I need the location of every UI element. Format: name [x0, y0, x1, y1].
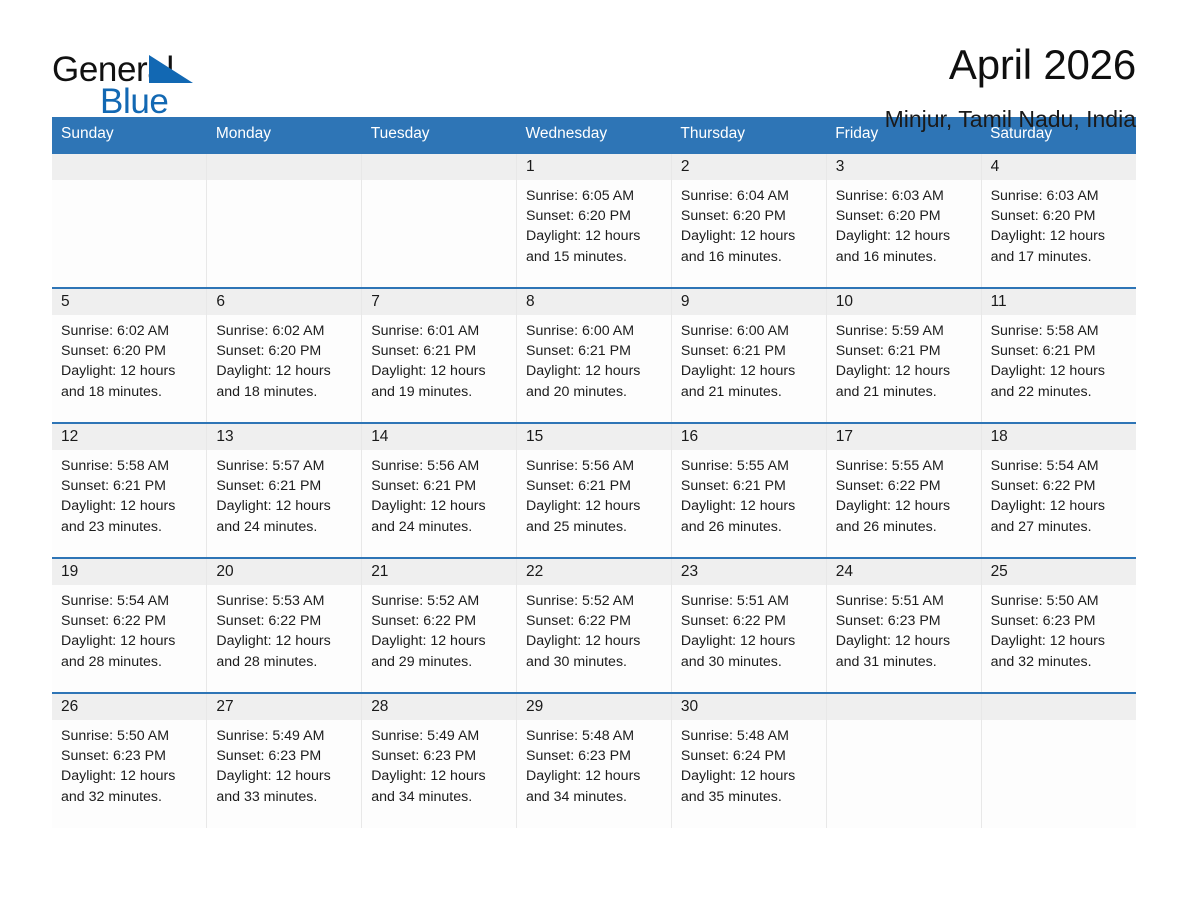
day-number: 26 [52, 694, 206, 720]
calendar-day-cell-empty [826, 693, 981, 828]
day-number: 24 [827, 559, 981, 585]
calendar-day-cell[interactable]: 6Sunrise: 6:02 AM Sunset: 6:20 PM Daylig… [207, 288, 362, 423]
calendar-day-cell[interactable]: 11Sunrise: 5:58 AM Sunset: 6:21 PM Dayli… [981, 288, 1136, 423]
day-sun-details: Sunrise: 5:50 AM Sunset: 6:23 PM Dayligh… [982, 585, 1136, 672]
day-number: 6 [207, 289, 361, 315]
day-sun-details: Sunrise: 5:50 AM Sunset: 6:23 PM Dayligh… [52, 720, 206, 807]
calendar-day-cell[interactable]: 29Sunrise: 5:48 AM Sunset: 6:23 PM Dayli… [517, 693, 672, 828]
calendar-day-cell-empty [362, 153, 517, 288]
day-number: 5 [52, 289, 206, 315]
day-number: 13 [207, 424, 361, 450]
day-sun-details: Sunrise: 5:55 AM Sunset: 6:22 PM Dayligh… [827, 450, 981, 537]
calendar-day-cell[interactable]: 3Sunrise: 6:03 AM Sunset: 6:20 PM Daylig… [826, 153, 981, 288]
calendar-day-cell[interactable]: 18Sunrise: 5:54 AM Sunset: 6:22 PM Dayli… [981, 423, 1136, 558]
day-sun-details: Sunrise: 6:04 AM Sunset: 6:20 PM Dayligh… [672, 180, 826, 267]
page-title: April 2026 [885, 44, 1136, 86]
weekday-header-monday: Monday [207, 117, 362, 153]
weekday-header-tuesday: Tuesday [362, 117, 517, 153]
day-sun-details: Sunrise: 5:48 AM Sunset: 6:24 PM Dayligh… [672, 720, 826, 807]
day-number [207, 154, 361, 180]
calendar-day-cell[interactable]: 23Sunrise: 5:51 AM Sunset: 6:22 PM Dayli… [671, 558, 826, 693]
day-sun-details: Sunrise: 5:52 AM Sunset: 6:22 PM Dayligh… [362, 585, 516, 672]
day-number: 22 [517, 559, 671, 585]
day-sun-details: Sunrise: 5:56 AM Sunset: 6:21 PM Dayligh… [362, 450, 516, 537]
day-number: 30 [672, 694, 826, 720]
calendar-day-cell[interactable]: 5Sunrise: 6:02 AM Sunset: 6:20 PM Daylig… [52, 288, 207, 423]
weekday-header-thursday: Thursday [671, 117, 826, 153]
calendar-week-row: 12Sunrise: 5:58 AM Sunset: 6:21 PM Dayli… [52, 423, 1136, 558]
calendar-day-cell-empty [981, 693, 1136, 828]
generalblue-logo[interactable]: General Blue [52, 44, 242, 116]
logo-text-blue: Blue [100, 84, 168, 119]
day-number: 10 [827, 289, 981, 315]
day-number [52, 154, 206, 180]
day-number [982, 694, 1136, 720]
weekday-header-sunday: Sunday [52, 117, 207, 153]
day-number: 17 [827, 424, 981, 450]
day-number: 2 [672, 154, 826, 180]
day-sun-details: Sunrise: 5:58 AM Sunset: 6:21 PM Dayligh… [982, 315, 1136, 402]
calendar-day-cell-empty [207, 153, 362, 288]
calendar-day-cell[interactable]: 26Sunrise: 5:50 AM Sunset: 6:23 PM Dayli… [52, 693, 207, 828]
calendar-day-cell[interactable]: 15Sunrise: 5:56 AM Sunset: 6:21 PM Dayli… [517, 423, 672, 558]
day-number: 3 [827, 154, 981, 180]
day-number: 25 [982, 559, 1136, 585]
day-sun-details: Sunrise: 5:51 AM Sunset: 6:22 PM Dayligh… [672, 585, 826, 672]
day-sun-details: Sunrise: 5:49 AM Sunset: 6:23 PM Dayligh… [207, 720, 361, 807]
calendar-week-row: 19Sunrise: 5:54 AM Sunset: 6:22 PM Dayli… [52, 558, 1136, 693]
day-number: 16 [672, 424, 826, 450]
calendar-day-cell[interactable]: 30Sunrise: 5:48 AM Sunset: 6:24 PM Dayli… [671, 693, 826, 828]
calendar-week-row: 26Sunrise: 5:50 AM Sunset: 6:23 PM Dayli… [52, 693, 1136, 828]
sunrise-sunset-calendar: SundayMondayTuesdayWednesdayThursdayFrid… [52, 117, 1136, 829]
day-sun-details: Sunrise: 6:02 AM Sunset: 6:20 PM Dayligh… [52, 315, 206, 402]
calendar-day-cell[interactable]: 4Sunrise: 6:03 AM Sunset: 6:20 PM Daylig… [981, 153, 1136, 288]
day-sun-details [362, 180, 516, 186]
day-sun-details: Sunrise: 5:52 AM Sunset: 6:22 PM Dayligh… [517, 585, 671, 672]
calendar-day-cell[interactable]: 20Sunrise: 5:53 AM Sunset: 6:22 PM Dayli… [207, 558, 362, 693]
day-number: 29 [517, 694, 671, 720]
day-number [827, 694, 981, 720]
day-sun-details: Sunrise: 6:01 AM Sunset: 6:21 PM Dayligh… [362, 315, 516, 402]
day-sun-details: Sunrise: 6:00 AM Sunset: 6:21 PM Dayligh… [517, 315, 671, 402]
calendar-day-cell[interactable]: 10Sunrise: 5:59 AM Sunset: 6:21 PM Dayli… [826, 288, 981, 423]
calendar-week-row: 5Sunrise: 6:02 AM Sunset: 6:20 PM Daylig… [52, 288, 1136, 423]
calendar-day-cell[interactable]: 16Sunrise: 5:55 AM Sunset: 6:21 PM Dayli… [671, 423, 826, 558]
day-sun-details: Sunrise: 5:56 AM Sunset: 6:21 PM Dayligh… [517, 450, 671, 537]
weekday-header-wednesday: Wednesday [517, 117, 672, 153]
calendar-day-cell[interactable]: 2Sunrise: 6:04 AM Sunset: 6:20 PM Daylig… [671, 153, 826, 288]
page-header: General Blue April 2026 Minjur, Tamil Na… [52, 0, 1136, 112]
day-sun-details: Sunrise: 6:03 AM Sunset: 6:20 PM Dayligh… [982, 180, 1136, 267]
day-number: 20 [207, 559, 361, 585]
day-sun-details: Sunrise: 6:05 AM Sunset: 6:20 PM Dayligh… [517, 180, 671, 267]
day-number: 15 [517, 424, 671, 450]
calendar-day-cell[interactable]: 21Sunrise: 5:52 AM Sunset: 6:22 PM Dayli… [362, 558, 517, 693]
calendar-week-row: 1Sunrise: 6:05 AM Sunset: 6:20 PM Daylig… [52, 153, 1136, 288]
calendar-day-cell[interactable]: 27Sunrise: 5:49 AM Sunset: 6:23 PM Dayli… [207, 693, 362, 828]
calendar-day-cell[interactable]: 9Sunrise: 6:00 AM Sunset: 6:21 PM Daylig… [671, 288, 826, 423]
day-number [362, 154, 516, 180]
calendar-body: 1Sunrise: 6:05 AM Sunset: 6:20 PM Daylig… [52, 153, 1136, 828]
day-number: 11 [982, 289, 1136, 315]
day-sun-details: Sunrise: 6:00 AM Sunset: 6:21 PM Dayligh… [672, 315, 826, 402]
day-number: 7 [362, 289, 516, 315]
day-sun-details: Sunrise: 5:57 AM Sunset: 6:21 PM Dayligh… [207, 450, 361, 537]
day-sun-details: Sunrise: 5:51 AM Sunset: 6:23 PM Dayligh… [827, 585, 981, 672]
day-number: 18 [982, 424, 1136, 450]
day-sun-details [982, 720, 1136, 726]
day-number: 1 [517, 154, 671, 180]
day-sun-details: Sunrise: 6:03 AM Sunset: 6:20 PM Dayligh… [827, 180, 981, 267]
day-number: 19 [52, 559, 206, 585]
day-number: 4 [982, 154, 1136, 180]
calendar-page: General Blue April 2026 Minjur, Tamil Na… [0, 0, 1188, 918]
day-number: 9 [672, 289, 826, 315]
day-sun-details: Sunrise: 5:53 AM Sunset: 6:22 PM Dayligh… [207, 585, 361, 672]
calendar-day-cell[interactable]: 22Sunrise: 5:52 AM Sunset: 6:22 PM Dayli… [517, 558, 672, 693]
calendar-day-cell[interactable]: 17Sunrise: 5:55 AM Sunset: 6:22 PM Dayli… [826, 423, 981, 558]
calendar-day-cell-empty [52, 153, 207, 288]
calendar-day-cell[interactable]: 1Sunrise: 6:05 AM Sunset: 6:20 PM Daylig… [517, 153, 672, 288]
title-block: April 2026 Minjur, Tamil Nadu, India [885, 44, 1136, 131]
day-sun-details: Sunrise: 5:48 AM Sunset: 6:23 PM Dayligh… [517, 720, 671, 807]
day-sun-details [827, 720, 981, 726]
calendar-day-cell[interactable]: 24Sunrise: 5:51 AM Sunset: 6:23 PM Dayli… [826, 558, 981, 693]
day-sun-details: Sunrise: 6:02 AM Sunset: 6:20 PM Dayligh… [207, 315, 361, 402]
day-sun-details: Sunrise: 5:59 AM Sunset: 6:21 PM Dayligh… [827, 315, 981, 402]
calendar-day-cell[interactable]: 12Sunrise: 5:58 AM Sunset: 6:21 PM Dayli… [52, 423, 207, 558]
day-sun-details: Sunrise: 5:55 AM Sunset: 6:21 PM Dayligh… [672, 450, 826, 537]
day-number: 27 [207, 694, 361, 720]
day-number: 8 [517, 289, 671, 315]
triangle-flag-icon [149, 55, 193, 83]
calendar-day-cell[interactable]: 19Sunrise: 5:54 AM Sunset: 6:22 PM Dayli… [52, 558, 207, 693]
day-sun-details: Sunrise: 5:58 AM Sunset: 6:21 PM Dayligh… [52, 450, 206, 537]
day-sun-details: Sunrise: 5:54 AM Sunset: 6:22 PM Dayligh… [982, 450, 1136, 537]
calendar-day-cell[interactable]: 8Sunrise: 6:00 AM Sunset: 6:21 PM Daylig… [517, 288, 672, 423]
calendar-day-cell[interactable]: 25Sunrise: 5:50 AM Sunset: 6:23 PM Dayli… [981, 558, 1136, 693]
calendar-day-cell[interactable]: 13Sunrise: 5:57 AM Sunset: 6:21 PM Dayli… [207, 423, 362, 558]
day-number: 12 [52, 424, 206, 450]
calendar-day-cell[interactable]: 14Sunrise: 5:56 AM Sunset: 6:21 PM Dayli… [362, 423, 517, 558]
day-sun-details: Sunrise: 5:49 AM Sunset: 6:23 PM Dayligh… [362, 720, 516, 807]
day-sun-details: Sunrise: 5:54 AM Sunset: 6:22 PM Dayligh… [52, 585, 206, 672]
day-sun-details [52, 180, 206, 186]
day-number: 23 [672, 559, 826, 585]
day-sun-details [207, 180, 361, 186]
calendar-day-cell[interactable]: 28Sunrise: 5:49 AM Sunset: 6:23 PM Dayli… [362, 693, 517, 828]
calendar-day-cell[interactable]: 7Sunrise: 6:01 AM Sunset: 6:21 PM Daylig… [362, 288, 517, 423]
day-number: 21 [362, 559, 516, 585]
day-number: 28 [362, 694, 516, 720]
day-number: 14 [362, 424, 516, 450]
